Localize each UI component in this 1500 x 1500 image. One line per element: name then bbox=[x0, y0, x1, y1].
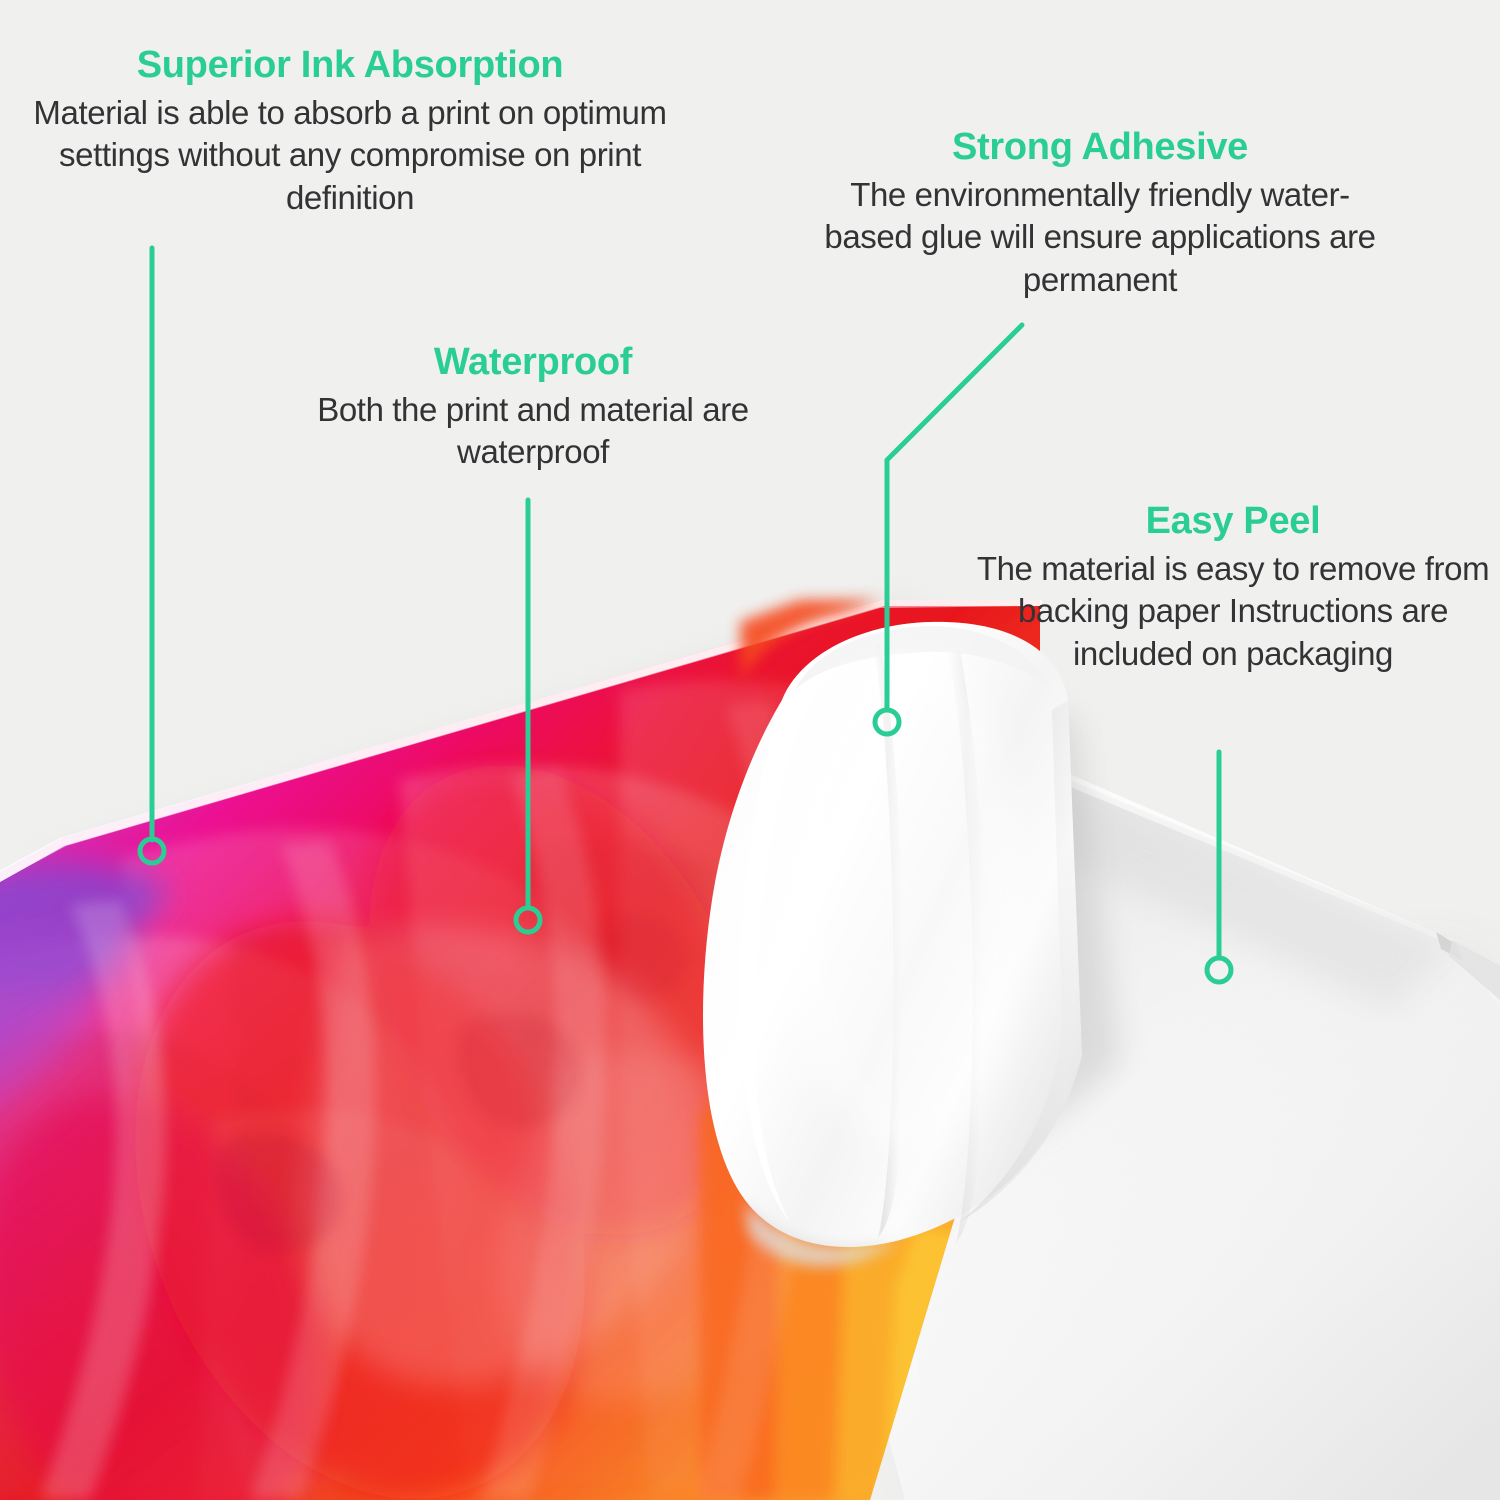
ring-marker-icon bbox=[875, 710, 899, 734]
callout-superior-ink-absorption: Superior Ink Absorption Material is able… bbox=[20, 44, 680, 220]
callout-title: Strong Adhesive bbox=[820, 126, 1380, 169]
callout-title: Waterproof bbox=[268, 341, 798, 384]
callout-body: Material is able to absorb a print on op… bbox=[20, 92, 680, 221]
callout-waterproof: Waterproof Both the print and material a… bbox=[268, 341, 798, 474]
callout-body: The material is easy to remove from back… bbox=[968, 548, 1498, 677]
callout-strong-adhesive: Strong Adhesive The environmentally frie… bbox=[820, 126, 1380, 302]
infographic-canvas: Superior Ink Absorption Material is able… bbox=[0, 0, 1500, 1500]
ring-marker-icon bbox=[1207, 958, 1231, 982]
callout-title: Easy Peel bbox=[968, 500, 1498, 543]
callout-title: Superior Ink Absorption bbox=[20, 44, 680, 87]
ring-marker-icon bbox=[516, 908, 540, 932]
callout-body: Both the print and material are waterpro… bbox=[268, 389, 798, 475]
callout-body: The environmentally friendly water-based… bbox=[820, 174, 1380, 303]
ring-marker-icon bbox=[140, 839, 164, 863]
callout-easy-peel: Easy Peel The material is easy to remove… bbox=[968, 500, 1498, 676]
